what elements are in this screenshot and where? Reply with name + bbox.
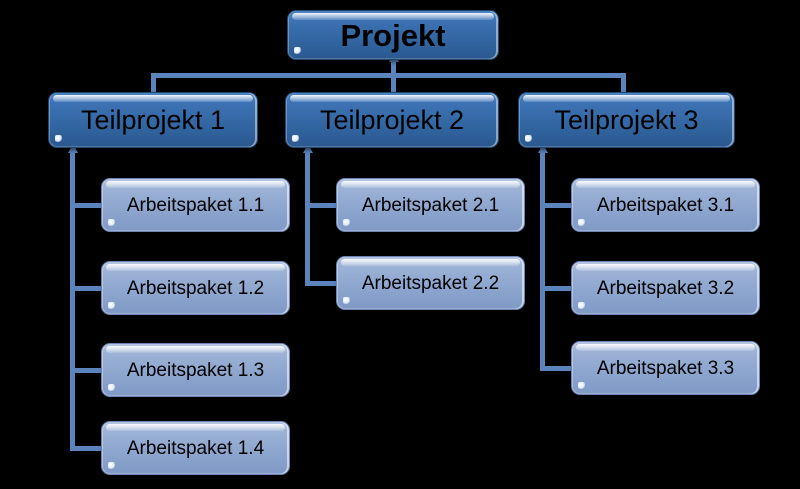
node-teilprojekt-3-label: Teilprojekt 3 — [554, 107, 698, 134]
node-arbeitspaket-3-2-label: Arbeitspaket 3.2 — [597, 279, 734, 298]
node-arbeitspaket-1-2[interactable]: Arbeitspaket 1.2 — [101, 261, 290, 315]
connector-to-teilprojekt-2 — [391, 73, 396, 94]
connector-col1-branch-1 — [70, 203, 103, 208]
node-teilprojekt-1[interactable]: Teilprojekt 1 — [48, 92, 258, 148]
node-arbeitspaket-1-3-label: Arbeitspaket 1.3 — [127, 361, 264, 380]
connector-col1-branch-2 — [70, 286, 103, 291]
connector-col1-branch-3 — [70, 368, 103, 373]
connector-col3-rail — [540, 151, 545, 370]
node-arbeitspaket-2-1[interactable]: Arbeitspaket 2.1 — [336, 178, 525, 232]
node-projekt-label: Projekt — [340, 20, 445, 51]
node-arbeitspaket-1-1-label: Arbeitspaket 1.1 — [127, 196, 264, 215]
connector-root-bus — [151, 73, 626, 78]
connector-col3-branch-2 — [540, 286, 573, 291]
connector-col1-rail — [70, 151, 75, 451]
connector-col2-rail — [305, 151, 310, 286]
node-teilprojekt-3[interactable]: Teilprojekt 3 — [518, 92, 735, 148]
node-arbeitspaket-3-1[interactable]: Arbeitspaket 3.1 — [571, 178, 760, 232]
connector-col1-branch-4 — [70, 446, 103, 451]
node-teilprojekt-1-label: Teilprojekt 1 — [81, 107, 225, 134]
node-arbeitspaket-1-3[interactable]: Arbeitspaket 1.3 — [101, 343, 290, 397]
node-arbeitspaket-1-4-label: Arbeitspaket 1.4 — [127, 439, 264, 458]
node-arbeitspaket-3-3[interactable]: Arbeitspaket 3.3 — [571, 341, 760, 395]
node-teilprojekt-2[interactable]: Teilprojekt 2 — [285, 92, 499, 148]
node-arbeitspaket-3-3-label: Arbeitspaket 3.3 — [597, 359, 734, 378]
connector-to-teilprojekt-1 — [151, 73, 156, 94]
node-projekt[interactable]: Projekt — [287, 10, 499, 60]
diagram-canvas: Projekt Teilprojekt 1 Teilprojekt 2 Teil… — [0, 0, 800, 489]
connector-col2-branch-2 — [305, 281, 338, 286]
node-arbeitspaket-2-2[interactable]: Arbeitspaket 2.2 — [336, 256, 525, 310]
connector-col3-branch-3 — [540, 366, 573, 371]
connector-to-teilprojekt-3 — [621, 73, 626, 94]
node-teilprojekt-2-label: Teilprojekt 2 — [320, 107, 464, 134]
connector-col2-branch-1 — [305, 203, 338, 208]
node-arbeitspaket-2-1-label: Arbeitspaket 2.1 — [362, 196, 499, 215]
node-arbeitspaket-1-1[interactable]: Arbeitspaket 1.1 — [101, 178, 290, 232]
node-arbeitspaket-1-2-label: Arbeitspaket 1.2 — [127, 279, 264, 298]
connector-col3-branch-1 — [540, 203, 573, 208]
node-arbeitspaket-3-2[interactable]: Arbeitspaket 3.2 — [571, 261, 760, 315]
node-arbeitspaket-3-1-label: Arbeitspaket 3.1 — [597, 196, 734, 215]
node-arbeitspaket-1-4[interactable]: Arbeitspaket 1.4 — [101, 421, 290, 475]
node-arbeitspaket-2-2-label: Arbeitspaket 2.2 — [362, 274, 499, 293]
